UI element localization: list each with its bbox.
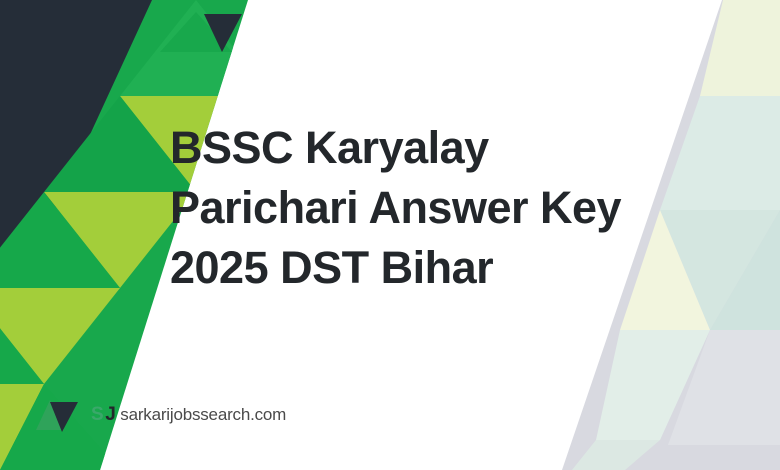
- headline-block: BSSC Karyalay Parichari Answer Key 2025 …: [170, 118, 730, 298]
- brand-letter-j: J: [105, 404, 115, 426]
- sarkarijobssearch-logo-mark[interactable]: [36, 394, 82, 436]
- brand-domain: sarkarijobssearch.com: [120, 405, 286, 425]
- page-title: BSSC Karyalay Parichari Answer Key 2025 …: [170, 118, 730, 298]
- brand-wordmark[interactable]: SJ sarkarijobssearch.com: [91, 404, 286, 426]
- promo-banner: BSSC Karyalay Parichari Answer Key 2025 …: [0, 0, 780, 470]
- brand-letter-s: S: [91, 404, 103, 426]
- brand-lockup[interactable]: SJ sarkarijobssearch.com: [36, 394, 286, 436]
